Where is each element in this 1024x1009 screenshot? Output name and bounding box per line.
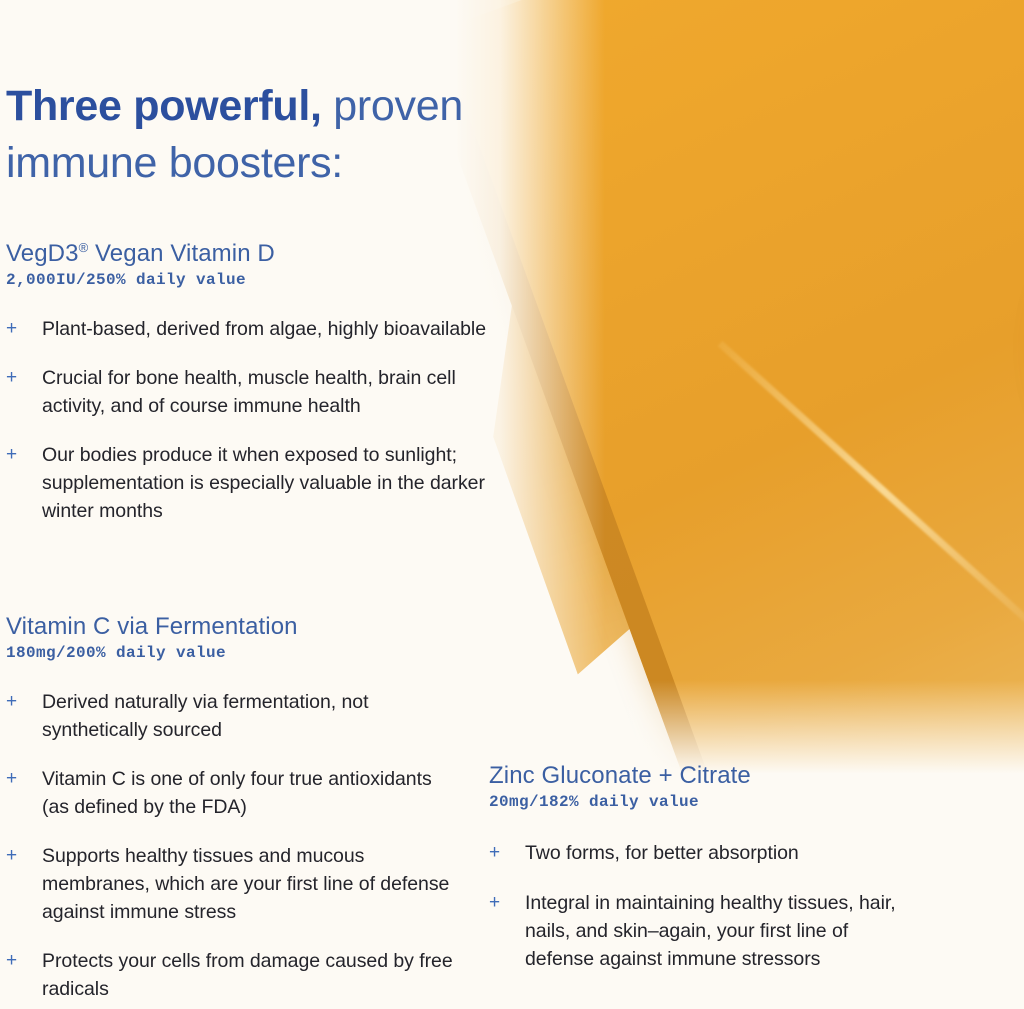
list-item: +Supports healthy tissues and mucous mem… [6,842,456,926]
list-item: +Crucial for bone health, muscle health,… [6,364,506,420]
list-item-text: Derived naturally via fermentation, not … [42,691,368,741]
section-title-vegd3: VegD3® Vegan Vitamin D [6,240,506,268]
section-title-text: Vitamin C via Fermentation [6,613,298,640]
dose-vegd3: 2,000IU/250% daily value [6,271,506,289]
dose-zinc: 20mg/182% daily value [489,793,919,811]
section-title-rest: Vegan Vitamin D [88,240,275,267]
list-item: +Two forms, for better absorption [489,839,919,867]
section-vitamin-c: Vitamin C via Fermentation 180mg/200% da… [6,613,456,1009]
list-item-text: Plant-based, derived from algae, highly … [42,318,486,340]
plus-icon: + [6,947,17,974]
list-item: +Protects your cells from damage caused … [6,947,456,1003]
headline-line-two: immune boosters: [6,139,343,187]
bullet-list-zinc: +Two forms, for better absorption +Integ… [489,839,919,973]
list-item: +Our bodies produce it when exposed to s… [6,441,506,525]
list-item: +Derived naturally via fermentation, not… [6,688,456,744]
page-title: Three powerful, proven immune boosters: [6,78,526,192]
list-item: +Plant-based, derived from algae, highly… [6,315,506,343]
section-title-zinc: Zinc Gluconate + Citrate [489,762,919,790]
bullet-list-vitamin-c: +Derived naturally via fermentation, not… [6,688,456,1004]
dose-vitamin-c: 180mg/200% daily value [6,644,456,662]
plus-icon: + [6,364,17,391]
plus-icon: + [489,839,500,866]
registered-mark-icon: ® [79,240,89,255]
page-root: Three powerful, proven immune boosters: … [0,0,1024,1009]
section-vegd3: VegD3® Vegan Vitamin D 2,000IU/250% dail… [6,240,506,546]
list-item-text: Our bodies produce it when exposed to su… [42,444,485,522]
section-title-text: Zinc Gluconate + Citrate [489,762,751,789]
content-layer: Three powerful, proven immune boosters: … [0,0,1024,1009]
plus-icon: + [6,842,17,869]
plus-icon: + [6,765,17,792]
list-item-text: Supports healthy tissues and mucous memb… [42,845,449,923]
list-item-text: Protects your cells from damage caused b… [42,950,453,1000]
headline-bold: Three powerful, [6,82,322,130]
plus-icon: + [6,441,17,468]
headline-regular: proven [322,82,463,130]
list-item-text: Integral in maintaining healthy tissues,… [525,892,896,970]
list-item: +Integral in maintaining healthy tissues… [489,889,919,973]
bullet-list-vegd3: +Plant-based, derived from algae, highly… [6,315,506,525]
list-item: +Vitamin C is one of only four true anti… [6,765,456,821]
list-item-text: Two forms, for better absorption [525,842,799,864]
plus-icon: + [489,889,500,916]
section-title-vitamin-c: Vitamin C via Fermentation [6,613,456,641]
plus-icon: + [6,315,17,342]
list-item-text: Crucial for bone health, muscle health, … [42,367,456,417]
list-item-text: Vitamin C is one of only four true antio… [42,768,432,818]
section-title-text: VegD3 [6,240,79,267]
plus-icon: + [6,688,17,715]
section-zinc: Zinc Gluconate + Citrate 20mg/182% daily… [489,762,919,995]
